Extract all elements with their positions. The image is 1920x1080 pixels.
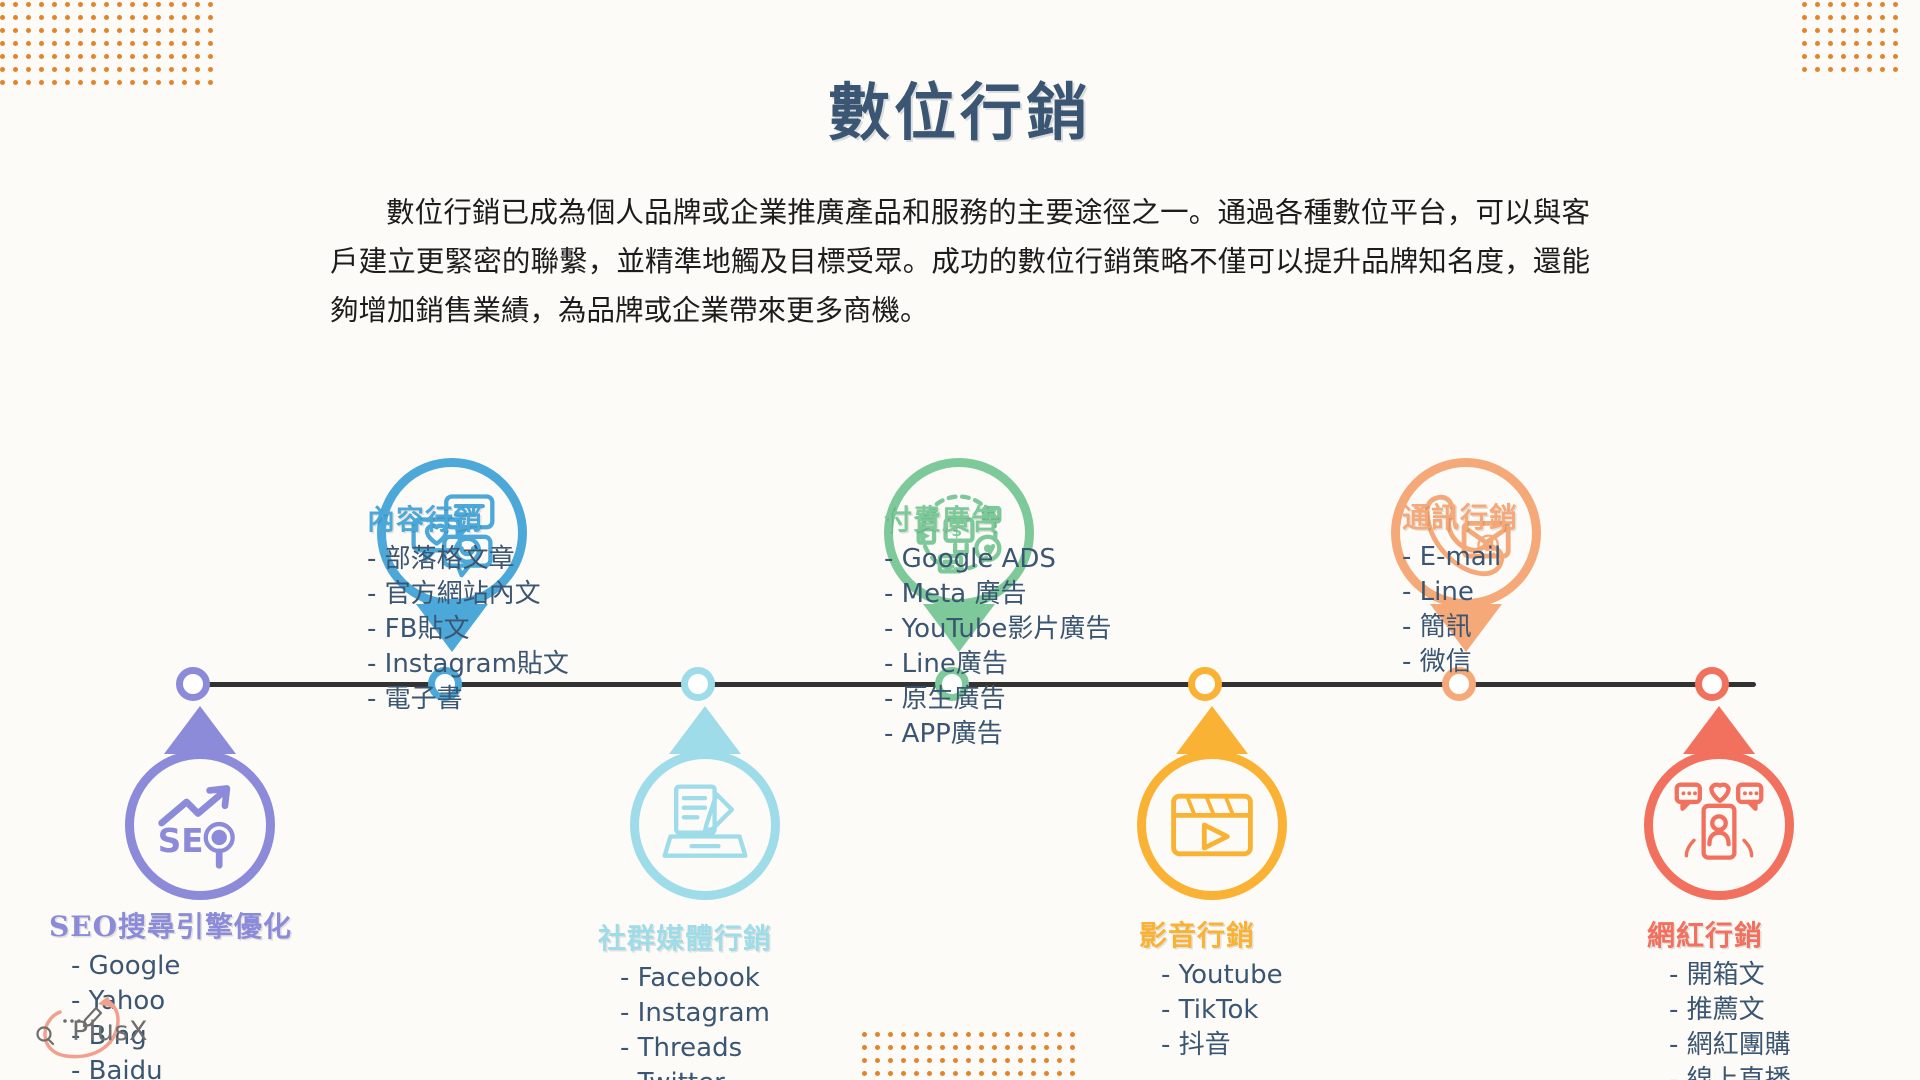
decorative-dot	[91, 28, 96, 33]
infographic-canvas: 數位行銷 數位行銷已成為個人品牌或企業推廣產品和服務的主要途徑之一。通過各種數位…	[0, 0, 1920, 1080]
list-item: E-mail	[1402, 540, 1702, 575]
list-item: 網紅團購	[1669, 1028, 1920, 1063]
decorative-dot	[39, 2, 44, 7]
decorative-dot	[901, 1071, 906, 1076]
decorative-dot	[1893, 15, 1898, 20]
decorative-dot	[52, 41, 57, 46]
decorative-dot	[143, 54, 148, 59]
decorative-dot	[1802, 41, 1807, 46]
decorative-dot	[901, 1032, 906, 1037]
decorative-dot	[1880, 41, 1885, 46]
list-item: Meta 廣告	[884, 577, 1184, 612]
decorative-dot	[979, 1032, 984, 1037]
decorative-dot	[52, 54, 57, 59]
section-video-marketing: 影音行銷YoutubeTikTok抖音	[1139, 914, 1439, 1063]
decorative-dot	[65, 28, 70, 33]
decorative-dot	[1828, 41, 1833, 46]
pin-marker-seo[interactable]: SE	[125, 750, 275, 900]
decorative-dot	[13, 2, 18, 7]
decorative-dot	[156, 54, 161, 59]
decorative-dot	[13, 28, 18, 33]
decorative-dot	[117, 15, 122, 20]
decorative-dot	[13, 54, 18, 59]
intro-paragraph: 數位行銷已成為個人品牌或企業推廣產品和服務的主要途徑之一。通過各種數位平台，可以…	[330, 188, 1590, 335]
decorative-dot	[1018, 1045, 1023, 1050]
list-item: Line	[1402, 575, 1702, 610]
list-item: 推薦文	[1669, 993, 1920, 1028]
decorative-dot	[966, 1032, 971, 1037]
section-content-marketing: 內容行銷部落格文章官方網站內文FB貼文Instagram貼文電子書	[367, 498, 667, 717]
list-item: 簡訊	[1402, 610, 1702, 645]
decorative-dot	[104, 28, 109, 33]
decorative-dot	[979, 1058, 984, 1063]
decorative-dot	[169, 41, 174, 46]
list-item: Youtube	[1161, 958, 1439, 993]
decorative-dot	[104, 54, 109, 59]
pin-marker-social-media-marketing[interactable]	[630, 750, 780, 900]
decorative-dot	[52, 28, 57, 33]
section-list-social-media-marketing: FacebookInstagramThreadsTwitterDcard	[598, 961, 898, 1080]
decorative-dot	[169, 28, 174, 33]
section-heading-paid-ads: 付費廣告	[884, 498, 1184, 538]
decorative-dot	[91, 2, 96, 7]
decorative-dot	[1815, 28, 1820, 33]
decorative-dot	[1893, 41, 1898, 46]
decorative-dot	[914, 1058, 919, 1063]
decorative-dot	[1802, 2, 1807, 7]
decorative-dot	[1802, 54, 1807, 59]
decorative-dot	[65, 2, 70, 7]
decorative-dot	[1854, 15, 1859, 20]
decorative-dot	[13, 15, 18, 20]
decorative-dot	[143, 15, 148, 20]
list-item: Line廣告	[884, 647, 1184, 682]
decorative-dot	[104, 2, 109, 7]
decorative-dot	[39, 15, 44, 20]
decorative-dot	[1815, 15, 1820, 20]
pin-tail	[669, 706, 741, 754]
decorative-dot	[1031, 1045, 1036, 1050]
decorative-dot	[78, 28, 83, 33]
decorative-dot	[927, 1045, 932, 1050]
decorative-dot	[143, 2, 148, 7]
seo-chart-icon: SE	[125, 750, 275, 900]
decorative-dot	[1854, 54, 1859, 59]
section-list-video-marketing: YoutubeTikTok抖音	[1139, 958, 1439, 1063]
decorative-dot	[1867, 15, 1872, 20]
decorative-dot	[1802, 28, 1807, 33]
decorative-dot	[1005, 1045, 1010, 1050]
decorative-dot	[169, 15, 174, 20]
section-heading-video-marketing: 影音行銷	[1139, 914, 1439, 954]
decorative-dot	[1841, 41, 1846, 46]
decorative-dot	[1057, 1058, 1062, 1063]
list-item: Twitter	[620, 1066, 898, 1080]
list-item: Facebook	[620, 961, 898, 996]
section-list-paid-ads: Google ADSMeta 廣告YouTube影片廣告Line廣告原生廣告AP…	[884, 542, 1184, 752]
decorative-dot	[1841, 2, 1846, 7]
section-heading-influencer-marketing: 網紅行銷	[1647, 914, 1920, 954]
decorative-dot	[26, 15, 31, 20]
decorative-dot	[156, 2, 161, 7]
decorative-dot	[26, 2, 31, 7]
pin-marker-influencer-marketing[interactable]	[1644, 750, 1794, 900]
decorative-dot	[1815, 54, 1820, 59]
timeline-node-seo[interactable]	[176, 667, 210, 701]
list-item: TikTok	[1161, 993, 1439, 1028]
decorative-dot	[104, 41, 109, 46]
decorative-dot	[1867, 28, 1872, 33]
decorative-dot	[26, 28, 31, 33]
decorative-dot	[1841, 28, 1846, 33]
decorative-dot	[1867, 2, 1872, 7]
decorative-dot	[208, 2, 213, 7]
decorative-dot	[1880, 28, 1885, 33]
decorative-dot	[1854, 28, 1859, 33]
decorative-dot	[78, 15, 83, 20]
decorative-dot	[65, 15, 70, 20]
decorative-dot	[940, 1045, 945, 1050]
decorative-dot	[182, 15, 187, 20]
pin-tail	[1176, 706, 1248, 754]
decorative-dot	[966, 1058, 971, 1063]
decorative-dot	[1057, 1032, 1062, 1037]
decorative-dot	[901, 1058, 906, 1063]
decorative-dot	[1841, 54, 1846, 59]
decorative-dot	[117, 41, 122, 46]
decorative-dot	[979, 1071, 984, 1076]
decorative-dot	[195, 41, 200, 46]
list-item: APP廣告	[884, 717, 1184, 752]
decorative-dot	[156, 15, 161, 20]
decorative-dot	[0, 28, 5, 33]
section-list-communication-marketing: E-mailLine簡訊微信	[1402, 540, 1702, 680]
pin-tail	[1683, 706, 1755, 754]
laptop-document-icon	[630, 750, 780, 900]
list-item: Google	[71, 949, 349, 984]
decorative-dot	[1018, 1071, 1023, 1076]
decorative-dot	[13, 41, 18, 46]
decorative-dot	[1880, 15, 1885, 20]
section-communication-marketing: 通訊行銷E-mailLine簡訊微信	[1402, 496, 1702, 680]
list-item: 部落格文章	[367, 542, 667, 577]
decorative-dot	[208, 15, 213, 20]
timeline-node-video-marketing[interactable]	[1188, 667, 1222, 701]
section-paid-ads: 付費廣告Google ADSMeta 廣告YouTube影片廣告Line廣告原生…	[884, 498, 1184, 752]
decorative-dot	[117, 28, 122, 33]
decorative-dot	[52, 15, 57, 20]
decorative-dot	[940, 1032, 945, 1037]
decorative-dot	[195, 15, 200, 20]
decorative-dot	[927, 1032, 932, 1037]
decorative-dot	[1070, 1032, 1075, 1037]
section-heading-communication-marketing: 通訊行銷	[1402, 496, 1702, 536]
decorative-dot	[91, 54, 96, 59]
decorative-dot	[1828, 28, 1833, 33]
decorative-dot	[1031, 1058, 1036, 1063]
decorative-dot	[1828, 54, 1833, 59]
decorative-dot	[208, 28, 213, 33]
decorative-dot	[1070, 1071, 1075, 1076]
list-item: Instagram	[620, 996, 898, 1031]
section-heading-content-marketing: 內容行銷	[367, 498, 667, 538]
decorative-dot	[1802, 15, 1807, 20]
decorative-dot	[1867, 54, 1872, 59]
decorative-dot	[1893, 54, 1898, 59]
decorative-dot	[26, 41, 31, 46]
decorative-dot	[39, 54, 44, 59]
decorative-dot	[0, 41, 5, 46]
list-item: FB貼文	[367, 612, 667, 647]
decorative-dot	[992, 1032, 997, 1037]
decorative-dot	[953, 1058, 958, 1063]
decorative-dot	[52, 2, 57, 7]
decorative-dot	[130, 41, 135, 46]
decorative-dot	[195, 2, 200, 7]
list-item: 電子書	[367, 682, 667, 717]
decorative-dot	[979, 1045, 984, 1050]
decorative-dot	[992, 1045, 997, 1050]
decorative-dot	[182, 41, 187, 46]
decorative-dot	[1815, 2, 1820, 7]
decorative-dot	[156, 28, 161, 33]
video-play-icon	[1137, 750, 1287, 900]
decorative-dot	[0, 54, 5, 59]
decorative-dot	[39, 28, 44, 33]
decorative-dot	[914, 1045, 919, 1050]
decorative-dot	[130, 15, 135, 20]
decorative-dot	[1018, 1058, 1023, 1063]
decorative-dot	[1880, 54, 1885, 59]
decorative-dot	[966, 1045, 971, 1050]
decorative-dot	[130, 54, 135, 59]
decorative-dot	[91, 15, 96, 20]
list-item: Google ADS	[884, 542, 1184, 577]
decorative-dot	[901, 1045, 906, 1050]
brand-wordmark: PlusX	[72, 1016, 148, 1047]
decorative-dot	[1044, 1058, 1049, 1063]
decorative-dot	[1841, 15, 1846, 20]
decorative-dot	[1828, 15, 1833, 20]
list-item: 微信	[1402, 645, 1702, 680]
decorative-dot	[1828, 2, 1833, 7]
decorative-dot	[1880, 2, 1885, 7]
decorative-dot	[1070, 1045, 1075, 1050]
decorative-dot	[1005, 1071, 1010, 1076]
list-item: 開箱文	[1669, 958, 1920, 993]
decorative-dot	[169, 54, 174, 59]
list-item: Instagram貼文	[367, 647, 667, 682]
decorative-dot	[39, 41, 44, 46]
decorative-dot	[78, 2, 83, 7]
decorative-dot	[953, 1071, 958, 1076]
decorative-dot	[1070, 1058, 1075, 1063]
decorative-dot	[26, 54, 31, 59]
decorative-dot	[953, 1032, 958, 1037]
decorative-dot	[143, 41, 148, 46]
decorative-dot	[1031, 1071, 1036, 1076]
decorative-dot	[1057, 1045, 1062, 1050]
decorative-dot	[130, 28, 135, 33]
pin-marker-video-marketing[interactable]	[1137, 750, 1287, 900]
decorative-dot	[940, 1058, 945, 1063]
list-item: 官方網站內文	[367, 577, 667, 612]
decorative-dot	[992, 1058, 997, 1063]
decorative-dot	[65, 54, 70, 59]
decorative-dot	[1893, 2, 1898, 7]
decorative-dot	[927, 1071, 932, 1076]
decorative-dot	[195, 54, 200, 59]
decorative-dot	[914, 1032, 919, 1037]
decorative-dot	[78, 54, 83, 59]
section-list-content-marketing: 部落格文章官方網站內文FB貼文Instagram貼文電子書	[367, 542, 667, 717]
decorative-dot	[169, 2, 174, 7]
decorative-dot	[182, 54, 187, 59]
timeline-node-social-media-marketing[interactable]	[681, 667, 715, 701]
decorative-dot	[914, 1071, 919, 1076]
decorative-dot	[1005, 1058, 1010, 1063]
section-heading-social-media-marketing: 社群媒體行銷	[598, 917, 898, 957]
section-heading-seo: SEO搜尋引擎優化	[49, 905, 349, 945]
decorative-dot	[91, 41, 96, 46]
decorative-dot	[0, 15, 5, 20]
list-item: YouTube影片廣告	[884, 612, 1184, 647]
decorative-dot	[940, 1071, 945, 1076]
decorative-dot	[1044, 1032, 1049, 1037]
section-influencer-marketing: 網紅行銷開箱文推薦文網紅團購線上直播	[1647, 914, 1920, 1080]
decorative-dot	[208, 54, 213, 59]
decorative-dot	[1815, 41, 1820, 46]
decorative-dot	[1867, 41, 1872, 46]
decorative-dot	[1893, 28, 1898, 33]
decorative-dot	[143, 28, 148, 33]
decorative-dot	[117, 54, 122, 59]
decorative-dot	[1854, 41, 1859, 46]
decorative-dot	[117, 2, 122, 7]
decorative-dot	[1005, 1032, 1010, 1037]
decorative-dot	[953, 1045, 958, 1050]
decorative-dot	[130, 2, 135, 7]
list-item: 抖音	[1161, 1028, 1439, 1063]
decorative-dot	[1044, 1045, 1049, 1050]
decorative-dot	[992, 1071, 997, 1076]
decorative-dot	[182, 2, 187, 7]
decorative-dot	[182, 28, 187, 33]
decorative-dot	[156, 41, 161, 46]
page-title: 數位行銷	[0, 62, 1920, 152]
decorative-dot	[1854, 2, 1859, 7]
pin-tail	[164, 706, 236, 754]
decorative-dot	[1018, 1032, 1023, 1037]
section-social-media-marketing: 社群媒體行銷FacebookInstagramThreadsTwitterDca…	[598, 917, 898, 1080]
decorative-dot	[104, 15, 109, 20]
decorative-dot	[78, 41, 83, 46]
decorative-dot	[1044, 1071, 1049, 1076]
decorative-dot	[65, 41, 70, 46]
decorative-dot	[1031, 1032, 1036, 1037]
list-item: Threads	[620, 1031, 898, 1066]
svg-text:SE: SE	[158, 822, 204, 860]
brand-logo: PlusX	[22, 990, 172, 1070]
decorative-dot	[927, 1058, 932, 1063]
phone-influencer-icon	[1644, 750, 1794, 900]
decorative-dot	[0, 2, 5, 7]
decorative-dot	[208, 41, 213, 46]
decorative-dot	[966, 1071, 971, 1076]
list-item: 原生廣告	[884, 682, 1184, 717]
decorative-dot	[195, 28, 200, 33]
section-list-influencer-marketing: 開箱文推薦文網紅團購線上直播	[1647, 958, 1920, 1080]
decorative-dot	[1057, 1071, 1062, 1076]
list-item: 線上直播	[1669, 1063, 1920, 1080]
